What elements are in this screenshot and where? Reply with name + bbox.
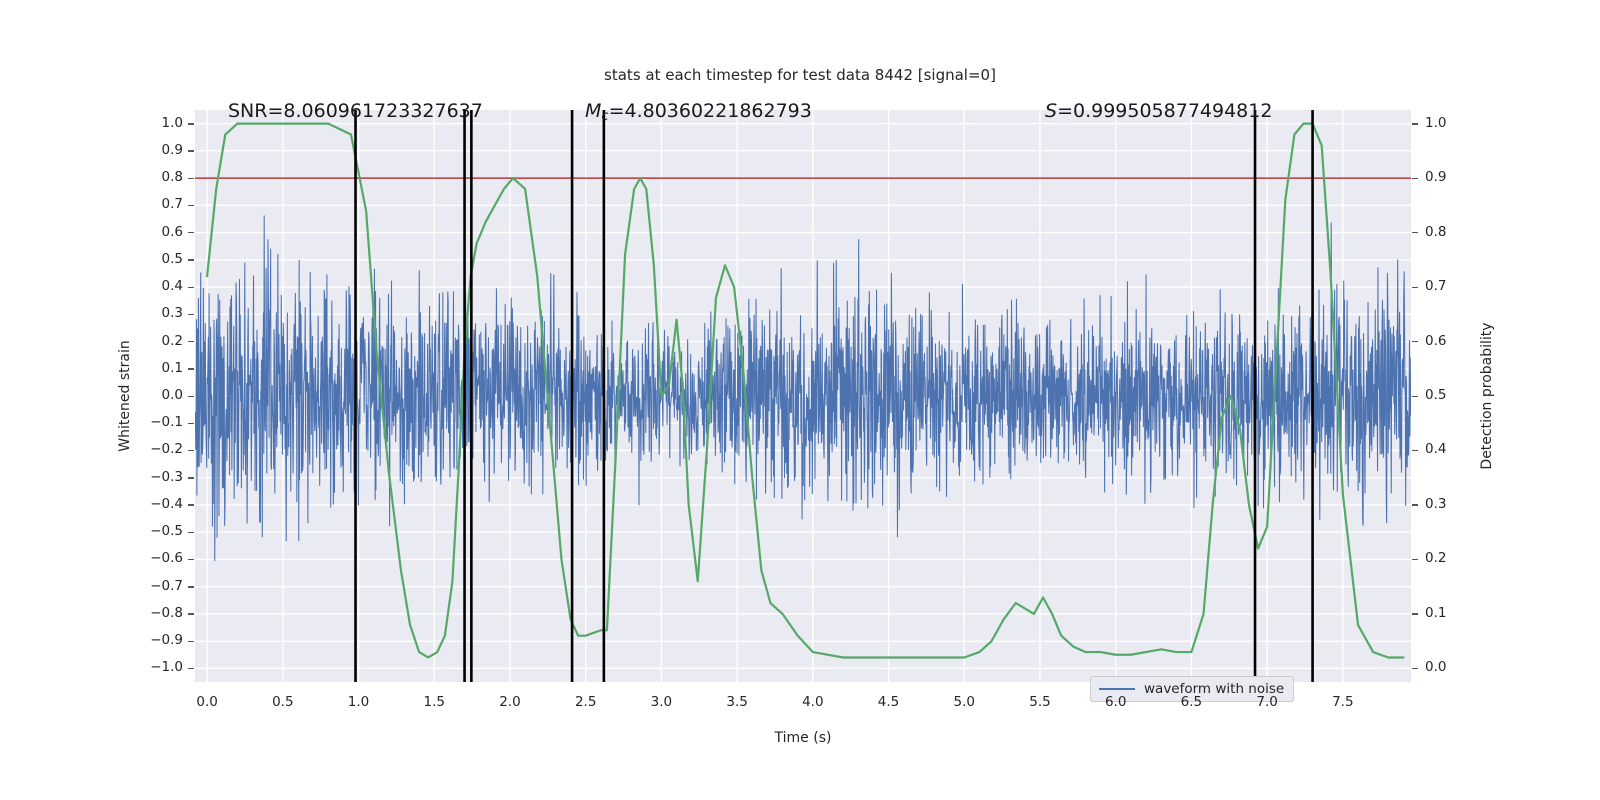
- tick-mark: [188, 259, 194, 260]
- y-tick-left-13: 0.3: [135, 305, 183, 321]
- y-tick-left-1: −0.9: [135, 632, 183, 648]
- annotation-text: SNR=8.060961723327637: [228, 100, 483, 122]
- y-tick-left-7: −0.3: [135, 469, 183, 485]
- x-tick-5: 2.5: [556, 694, 616, 710]
- y-tick-right-6: 0.6: [1425, 333, 1473, 349]
- y-tick-right-8: 0.8: [1425, 224, 1473, 240]
- x-tick-15: 7.5: [1313, 694, 1373, 710]
- tick-mark: [188, 423, 194, 424]
- tick-mark: [1412, 613, 1418, 614]
- waveform-series: [195, 216, 1411, 627]
- y-axis-left-label: Whitened strain: [117, 340, 133, 451]
- tick-mark: [188, 150, 194, 151]
- tick-mark: [1412, 232, 1418, 233]
- x-tick-14: 7.0: [1237, 694, 1297, 710]
- tick-mark: [188, 559, 194, 560]
- plot-svg: [195, 110, 1411, 682]
- y-tick-right-4: 0.4: [1425, 441, 1473, 457]
- tick-mark: [1412, 668, 1418, 669]
- tick-mark: [188, 613, 194, 614]
- x-tick-8: 4.0: [783, 694, 843, 710]
- y-tick-right-2: 0.2: [1425, 550, 1473, 566]
- x-axis-label: Time (s): [195, 730, 1411, 746]
- y-tick-left-6: −0.4: [135, 496, 183, 512]
- y-tick-left-14: 0.4: [135, 278, 183, 294]
- x-tick-10: 5.0: [934, 694, 994, 710]
- tick-mark: [1412, 123, 1418, 124]
- annotation-chirp-mass: Mc=4.80360221862793: [585, 100, 812, 124]
- tick-mark: [188, 450, 194, 451]
- y-tick-left-2: −0.8: [135, 605, 183, 621]
- y-tick-left-9: −0.1: [135, 414, 183, 430]
- y-tick-left-0: −1.0: [135, 659, 183, 675]
- y-tick-left-8: −0.2: [135, 441, 183, 457]
- annotation-snr: SNR=8.060961723327637: [228, 100, 483, 122]
- tick-mark: [1412, 287, 1418, 288]
- x-tick-3: 1.5: [404, 694, 464, 710]
- y-tick-left-3: −0.7: [135, 578, 183, 594]
- y-tick-right-10: 1.0: [1425, 115, 1473, 131]
- y-tick-left-12: 0.2: [135, 333, 183, 349]
- tick-mark: [188, 586, 194, 587]
- tick-mark: [1412, 559, 1418, 560]
- page-title: stats at each timestep for test data 844…: [0, 66, 1600, 84]
- tick-mark: [1412, 178, 1418, 179]
- tick-mark: [188, 396, 194, 397]
- annotation-value: =0.999505877494812: [1057, 100, 1272, 122]
- tick-mark: [1412, 341, 1418, 342]
- figure-canvas: stats at each timestep for test data 844…: [0, 0, 1600, 800]
- y-tick-left-11: 0.1: [135, 360, 183, 376]
- tick-mark: [188, 178, 194, 179]
- tick-mark: [188, 504, 194, 505]
- x-tick-2: 1.0: [329, 694, 389, 710]
- y-tick-left-16: 0.6: [135, 224, 183, 240]
- plot-area[interactable]: [195, 110, 1411, 682]
- legend-line-swatch: [1099, 688, 1135, 690]
- y-axis-right-label: Detection probability: [1479, 322, 1495, 469]
- x-tick-0: 0.0: [177, 694, 237, 710]
- tick-mark: [1412, 504, 1418, 505]
- x-tick-4: 2.0: [480, 694, 540, 710]
- x-tick-1: 0.5: [253, 694, 313, 710]
- x-tick-6: 3.0: [631, 694, 691, 710]
- y-tick-right-0: 0.0: [1425, 659, 1473, 675]
- x-tick-7: 3.5: [707, 694, 767, 710]
- y-tick-left-18: 0.8: [135, 169, 183, 185]
- y-tick-left-20: 1.0: [135, 115, 183, 131]
- tick-mark: [188, 287, 194, 288]
- tick-mark: [188, 368, 194, 369]
- tick-mark: [1412, 396, 1418, 397]
- y-tick-right-9: 0.9: [1425, 169, 1473, 185]
- annotation-subscript: c: [601, 109, 608, 124]
- tick-mark: [188, 532, 194, 533]
- annotation-score: S=0.999505877494812: [1045, 100, 1272, 122]
- tick-mark: [188, 205, 194, 206]
- annotation-symbol: S: [1045, 100, 1057, 122]
- y-tick-right-5: 0.5: [1425, 387, 1473, 403]
- x-tick-12: 6.0: [1086, 694, 1146, 710]
- tick-mark: [1412, 450, 1418, 451]
- y-tick-right-1: 0.1: [1425, 605, 1473, 621]
- y-tick-left-15: 0.5: [135, 251, 183, 267]
- y-tick-left-4: −0.6: [135, 550, 183, 566]
- tick-mark: [188, 641, 194, 642]
- y-tick-left-10: 0.0: [135, 387, 183, 403]
- tick-mark: [188, 123, 194, 124]
- x-tick-11: 5.5: [1010, 694, 1070, 710]
- x-tick-9: 4.5: [859, 694, 919, 710]
- annotation-value: =4.80360221862793: [609, 100, 812, 122]
- y-tick-left-19: 0.9: [135, 142, 183, 158]
- tick-mark: [188, 477, 194, 478]
- tick-mark: [188, 668, 194, 669]
- tick-mark: [188, 232, 194, 233]
- tick-mark: [188, 314, 194, 315]
- tick-mark: [188, 341, 194, 342]
- y-tick-right-3: 0.3: [1425, 496, 1473, 512]
- y-tick-left-5: −0.5: [135, 523, 183, 539]
- y-tick-left-17: 0.7: [135, 196, 183, 212]
- x-tick-13: 6.5: [1161, 694, 1221, 710]
- y-tick-right-7: 0.7: [1425, 278, 1473, 294]
- annotation-symbol: M: [585, 100, 601, 122]
